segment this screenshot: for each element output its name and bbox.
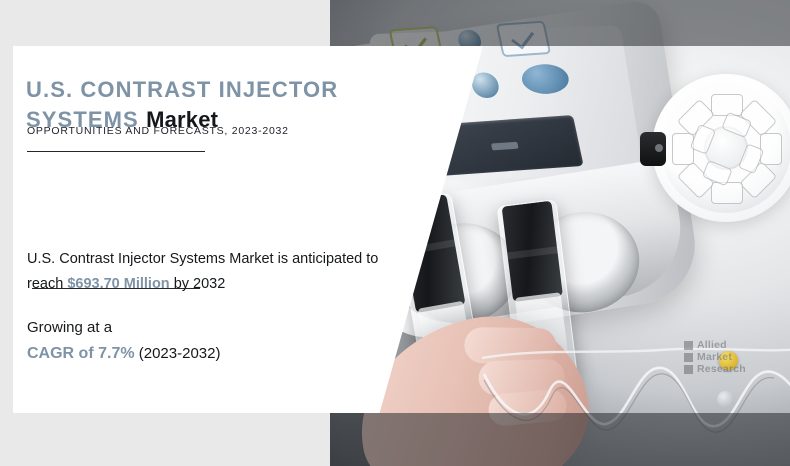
pad-segment <box>672 133 694 165</box>
watermark-line-2: Market <box>697 351 746 363</box>
title-divider <box>27 151 205 152</box>
content-divider <box>32 288 200 289</box>
circular-control-pad <box>652 74 790 222</box>
watermark-line-3: Research <box>697 363 746 375</box>
pad-mount-bracket <box>640 132 666 166</box>
allied-market-research-watermark: Allied Market Research <box>684 334 776 380</box>
page-subtitle: OPPORTUNITIES AND FORECASTS, 2023-2032 <box>27 125 289 137</box>
cagr-value: CAGR of 7.7% <box>27 345 135 362</box>
cagr-label: Growing at a <box>27 319 112 336</box>
syringe-plunger-right <box>502 201 563 302</box>
banner-stage: Allied Market Research U.S. CONTRAST INJ… <box>0 0 790 466</box>
chevron-button-blue-1 <box>496 21 551 58</box>
watermark-line-1: Allied <box>697 339 746 351</box>
pad-segment <box>760 133 782 165</box>
watermark-bars-icon <box>684 341 693 374</box>
cagr-period: (2023-2032) <box>139 345 221 362</box>
forecast-value: $693.70 Million <box>67 276 169 292</box>
market-forecast-statement: U.S. Contrast Injector Systems Market is… <box>27 247 399 297</box>
watermark-text: Allied Market Research <box>697 339 746 375</box>
forecast-text-after: by 2032 <box>170 276 226 292</box>
cagr-statement: Growing at a CAGR of 7.7% (2023-2032) <box>27 315 377 367</box>
pad-segment <box>711 182 743 204</box>
blue-action-button <box>519 63 572 96</box>
